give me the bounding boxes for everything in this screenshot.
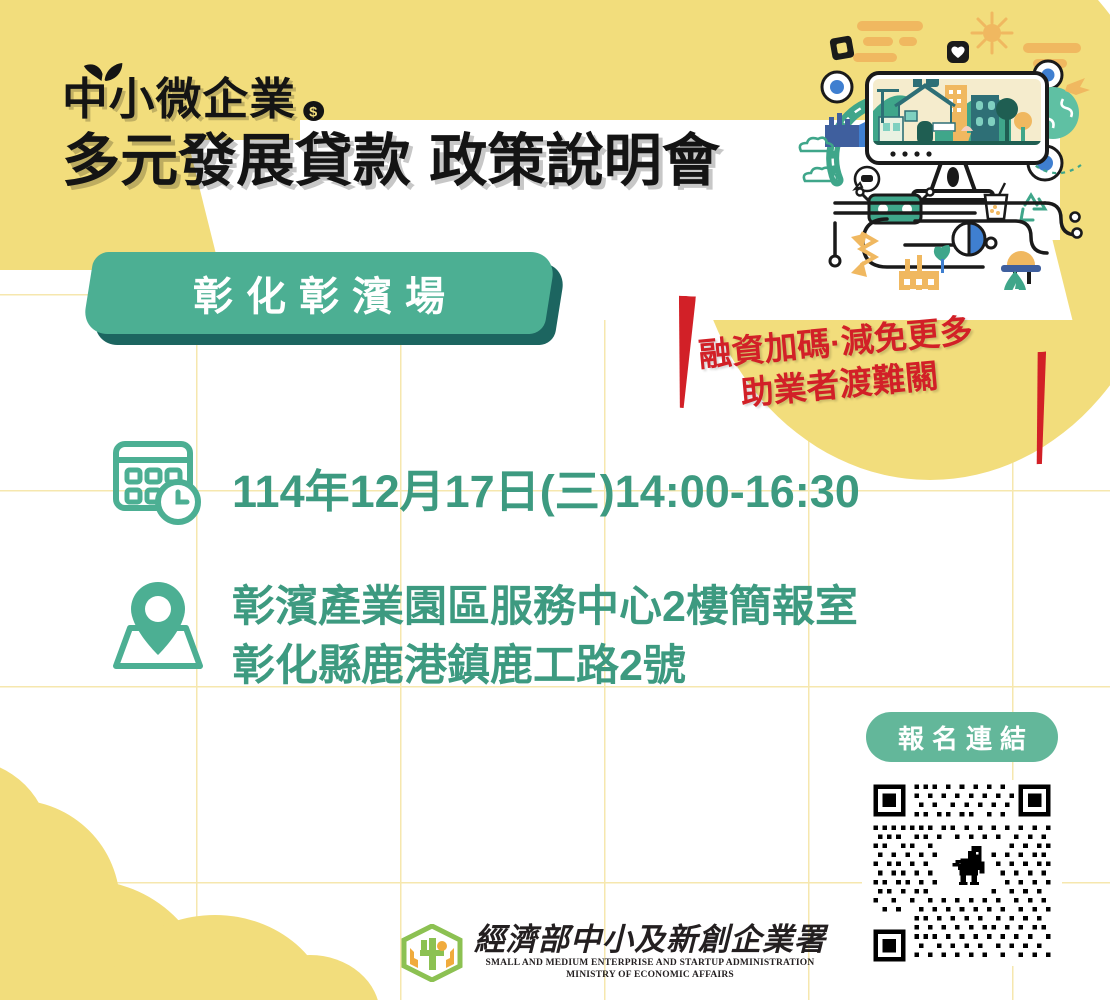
event-address-line-2: 彰化縣鹿港鎮鹿工路2號	[232, 637, 858, 696]
coin-dollar-icon: $	[302, 100, 325, 122]
venue-banner: 彰化彰濱場	[88, 252, 550, 334]
calendar-clock-icon	[112, 438, 208, 526]
event-address-block: 彰濱產業園區服務中心2樓簡報室 彰化縣鹿港鎮鹿工路2號	[232, 578, 858, 697]
footer-logo-block: 經濟部中小及新創企業署 SMALL AND MEDIUM ENTERPRISE …	[400, 924, 826, 982]
headline-line-2-part-1: 多元發展貸款	[62, 129, 411, 193]
signup-link-label: 報名連結	[890, 719, 1034, 756]
qr-code[interactable]	[862, 780, 1062, 966]
footer-text-block: 經濟部中小及新創企業署 SMALL AND MEDIUM ENTERPRISE …	[474, 924, 826, 982]
smart-city-illustration	[795, 5, 1095, 295]
headline-line-1-text: 中小微企業	[62, 75, 296, 124]
footer-org-en-line-1: SMALL AND MEDIUM ENTERPRISE AND STARTUP …	[474, 957, 826, 970]
signup-link-button[interactable]: 報名連結	[866, 712, 1058, 762]
sprout-icon	[81, 54, 125, 82]
event-address-line-1: 彰濱產業園區服務中心2樓簡報室	[232, 578, 858, 637]
venue-banner-body: 彰化彰濱場	[82, 252, 557, 334]
venue-banner-label: 彰化彰濱場	[180, 264, 458, 322]
sme-startup-administration-logo-icon	[400, 924, 464, 982]
headline-line-1: 中小微企業 $	[62, 78, 733, 122]
headline-block: 中小微企業 $ 多元發展貸款政策說明會	[62, 78, 707, 190]
svg-text:$: $	[309, 105, 318, 121]
map-pin-icon	[106, 570, 210, 674]
headline-line-2-part-2: 政策說明會	[429, 129, 720, 193]
poster-canvas: 中小微企業 $ 多元發展貸款政策說明會 彰化彰濱場 融資加碼·減免更多 助業者渡…	[0, 0, 1110, 1000]
footer-org-en-line-2: MINISTRY OF ECONOMIC AFFAIRS	[474, 969, 826, 982]
footer-org-cn: 經濟部中小及新創企業署	[474, 924, 826, 957]
headline-line-2: 多元發展貸款政策說明會	[62, 132, 720, 190]
event-date-text: 114年12月17日(三)14:00-16:30	[232, 455, 860, 520]
